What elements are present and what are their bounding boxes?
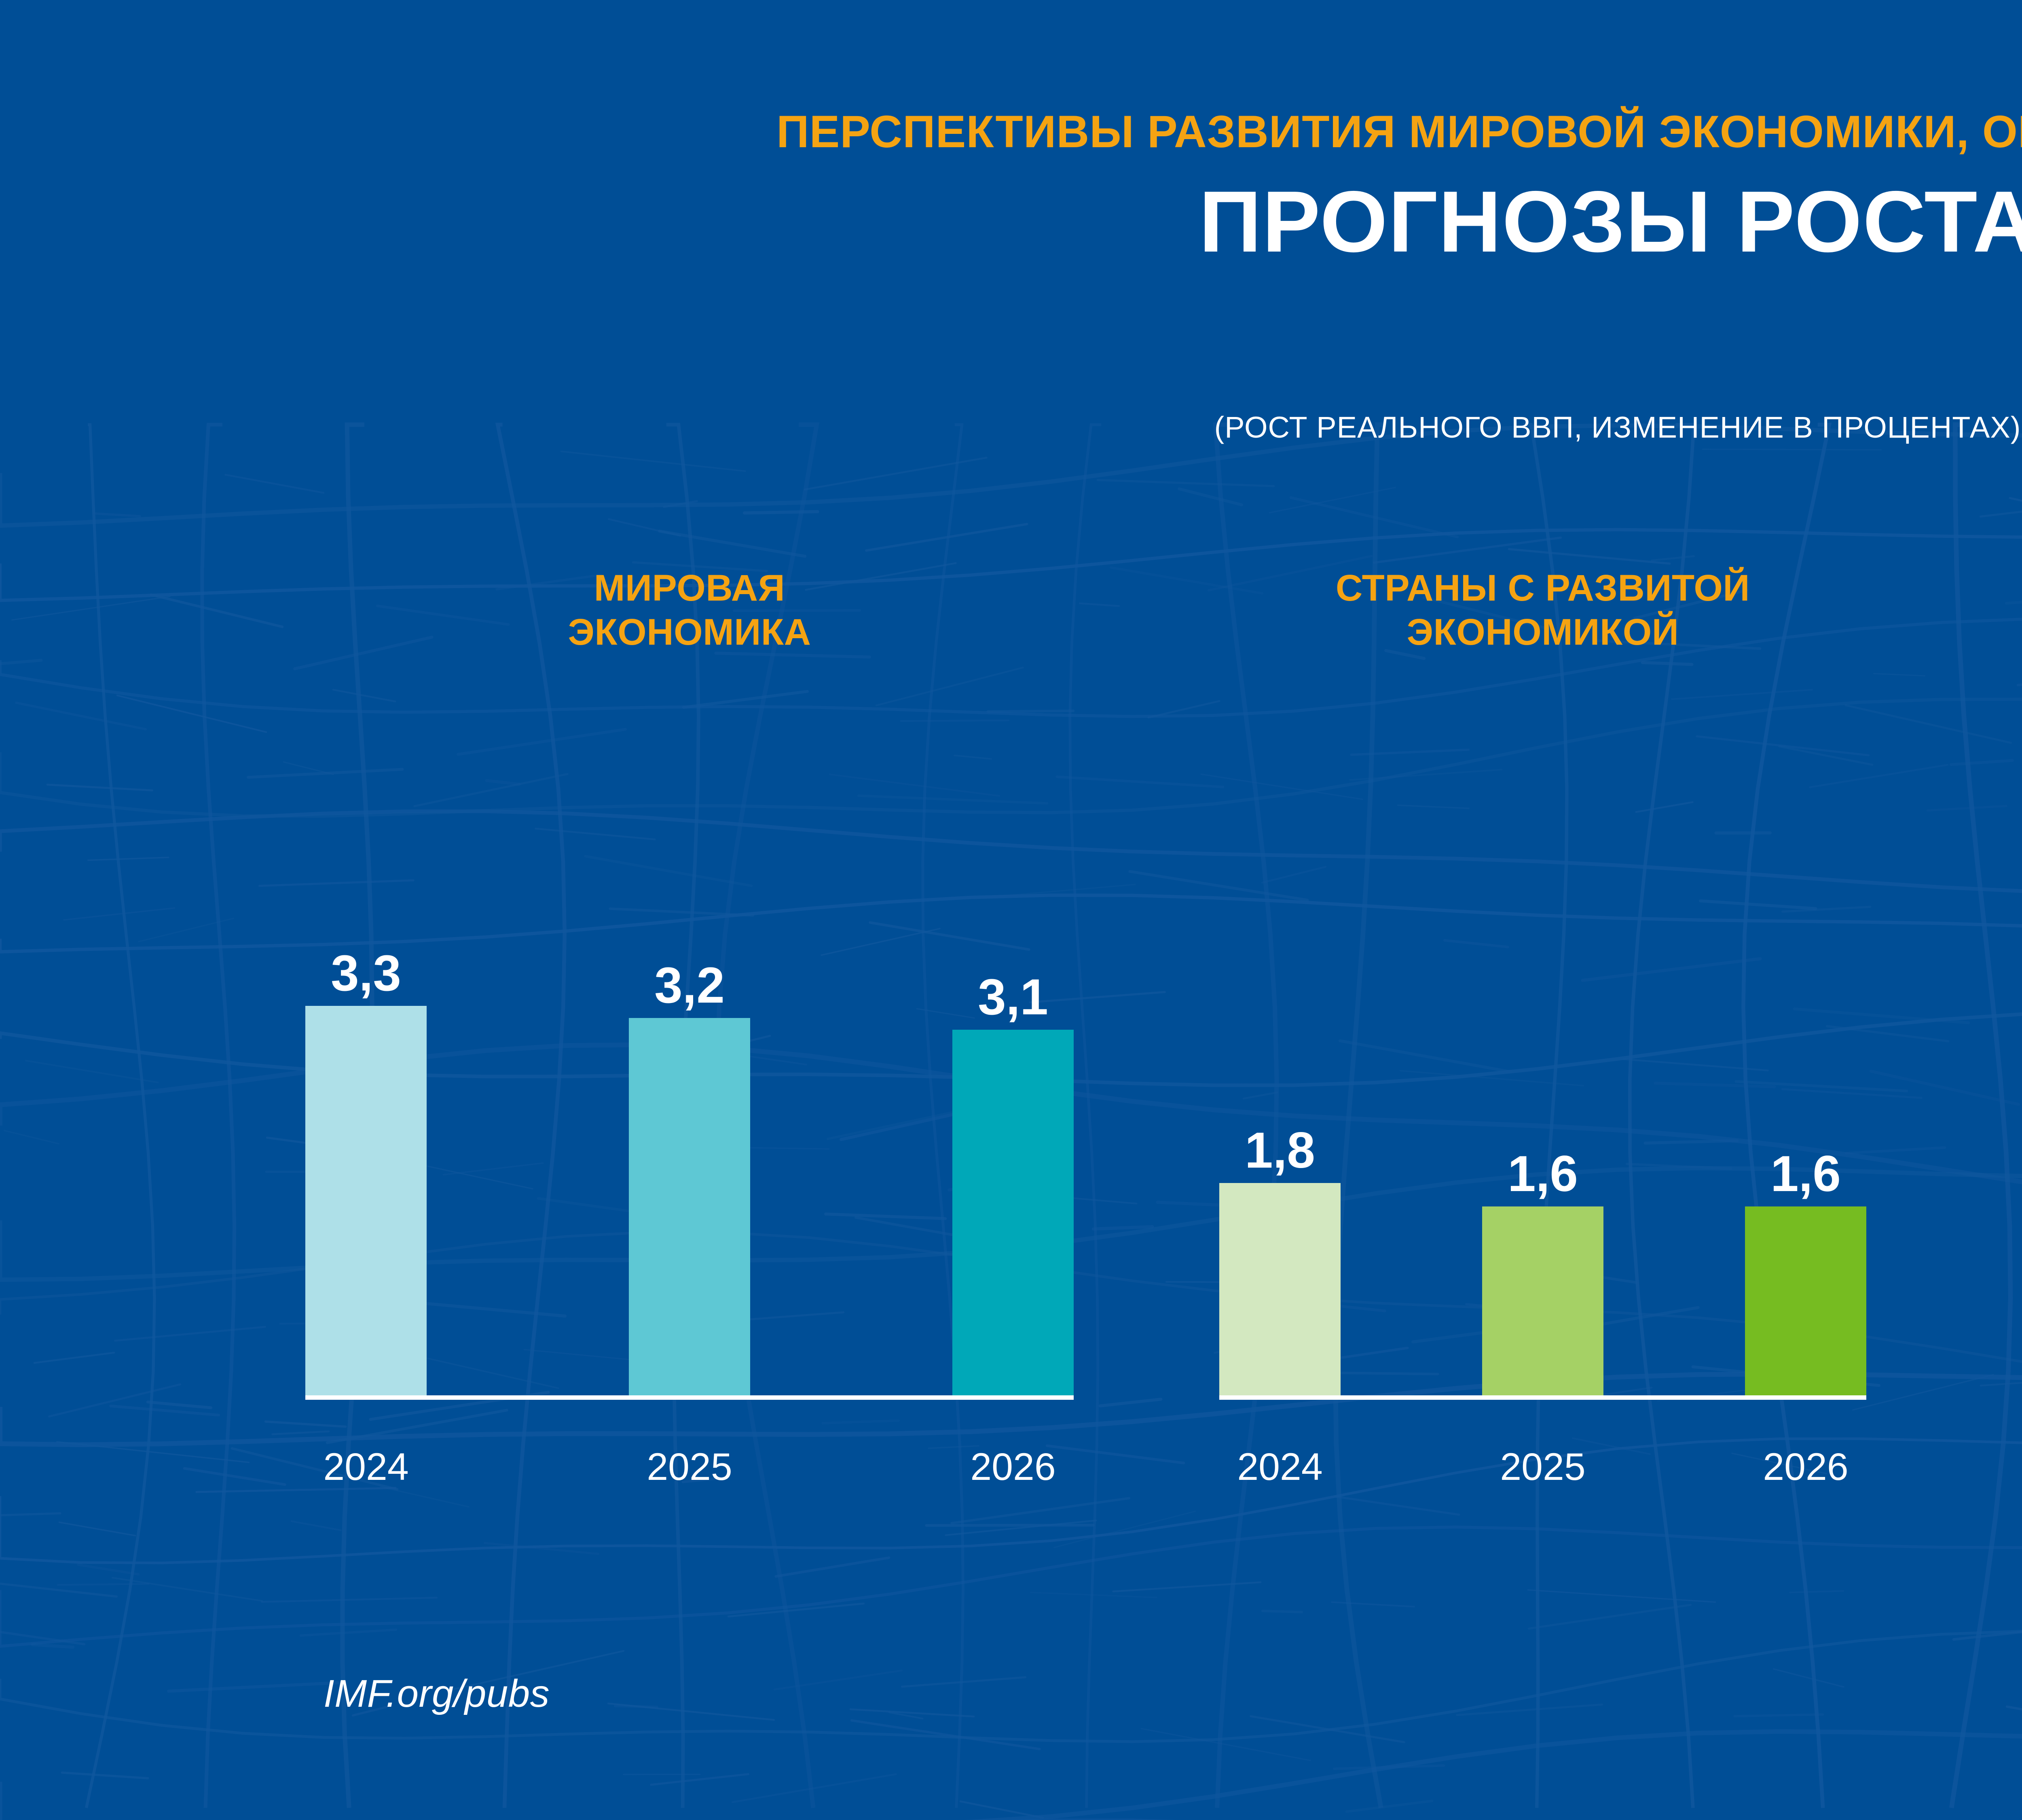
bar-rect[interactable] — [1482, 1206, 1603, 1395]
bar-value-label: 1,8 — [1245, 1125, 1315, 1176]
year-label: 2024 — [305, 1448, 427, 1486]
chart-group-world: МИРОВАЯ ЭКОНОМИКА 3,3 3,2 3,1 2024 — [305, 0, 1074, 1820]
bar-rect[interactable] — [629, 1018, 750, 1395]
bar-column[interactable]: 3,1 — [952, 829, 1074, 1395]
group-title-advanced: СТРАНЫ С РАЗВИТОЙ ЭКОНОМИКОЙ — [1219, 566, 1866, 654]
bar-value-label: 3,3 — [331, 948, 401, 999]
bar-column[interactable]: 1,6 — [1745, 829, 1866, 1395]
bar-column[interactable]: 3,2 — [629, 829, 750, 1395]
bar-value-label: 3,1 — [978, 972, 1048, 1022]
year-label: 2026 — [952, 1448, 1074, 1486]
year-label: 2024 — [1219, 1448, 1341, 1486]
bar-value-label: 1,6 — [1770, 1149, 1841, 1199]
year-axis-world: 2024 2025 2026 — [305, 1448, 1074, 1486]
axis-baseline — [1219, 1395, 1866, 1400]
bar-rect[interactable] — [1219, 1183, 1341, 1395]
bar-value-label: 1,6 — [1508, 1149, 1578, 1199]
bars-advanced: 1,8 1,6 1,6 — [1219, 829, 1866, 1395]
group-title-world: МИРОВАЯ ЭКОНОМИКА — [305, 566, 1074, 654]
year-label: 2026 — [1745, 1448, 1866, 1486]
plot-area-advanced: 1,8 1,6 1,6 — [1219, 829, 1866, 1395]
bar-column[interactable]: 1,6 — [1482, 829, 1603, 1395]
chart-group-advanced: СТРАНЫ С РАЗВИТОЙ ЭКОНОМИКОЙ 1,8 1,6 1,6 — [1219, 0, 1866, 1820]
infographic-canvas: ПЕРСПЕКТИВЫ РАЗВИТИЯ МИРОВОЙ ЭКОНОМИКИ, … — [0, 0, 2022, 1820]
bar-value-label: 3,2 — [654, 960, 725, 1011]
bar-column[interactable]: 1,8 — [1219, 829, 1341, 1395]
bar-rect[interactable] — [305, 1006, 427, 1395]
axis-baseline — [305, 1395, 1074, 1400]
year-axis-advanced: 2024 2025 2026 — [1219, 1448, 1866, 1486]
bars-world: 3,3 3,2 3,1 — [305, 829, 1074, 1395]
year-label: 2025 — [629, 1448, 750, 1486]
bar-rect[interactable] — [952, 1030, 1074, 1395]
source-link[interactable]: IMF.org/pubs — [324, 1674, 550, 1713]
year-label: 2025 — [1482, 1448, 1603, 1486]
bar-column[interactable]: 3,3 — [305, 829, 427, 1395]
bar-rect[interactable] — [1745, 1206, 1866, 1395]
plot-area-world: 3,3 3,2 3,1 — [305, 829, 1074, 1395]
